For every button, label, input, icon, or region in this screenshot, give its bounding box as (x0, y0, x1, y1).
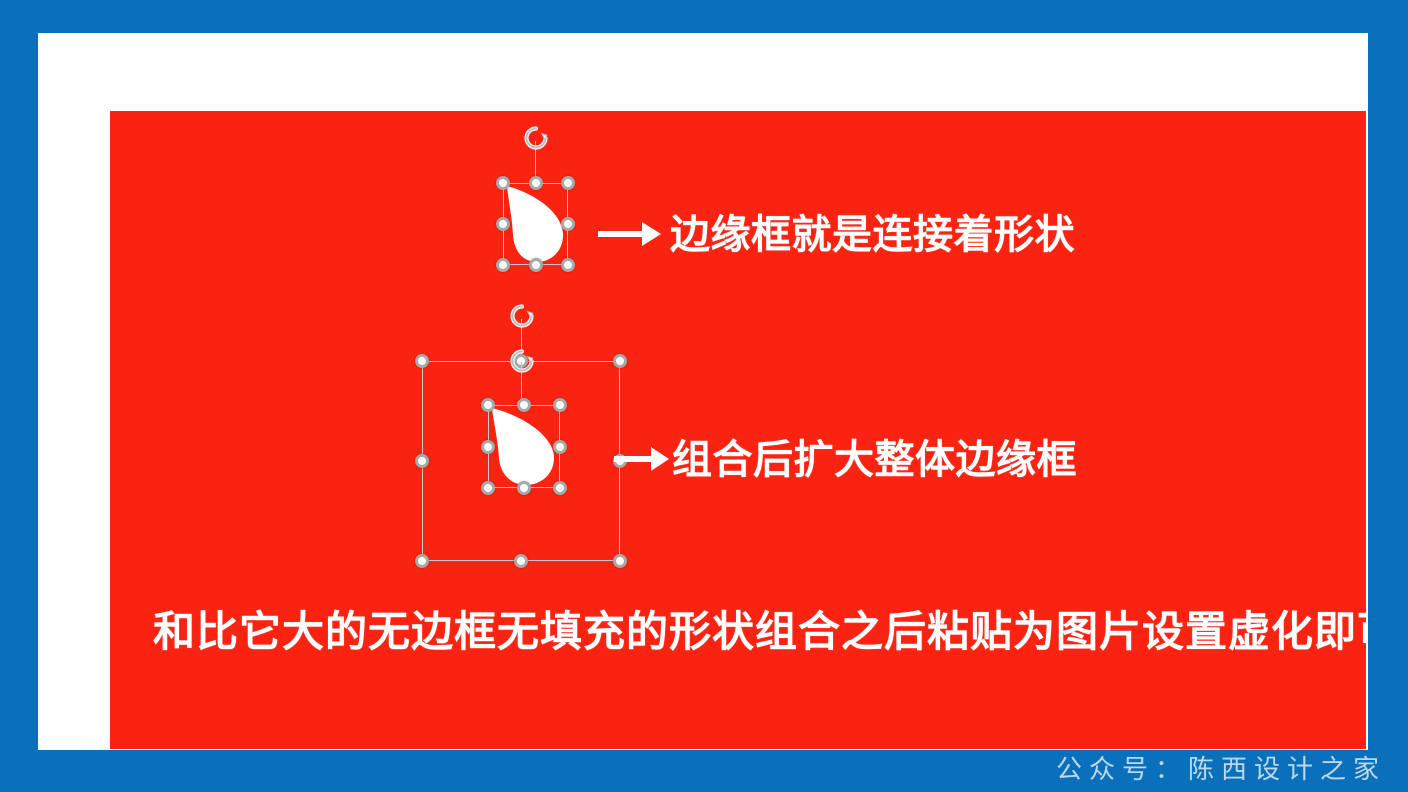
selection-handle[interactable] (561, 217, 575, 231)
right-arrow-icon (598, 221, 662, 247)
rotate-handle-icon[interactable] (507, 301, 537, 331)
selection-handle[interactable] (415, 454, 429, 468)
selection-handle[interactable] (613, 354, 627, 368)
selection-handle[interactable] (517, 481, 531, 495)
right-arrow-icon (614, 446, 670, 472)
selection-handle[interactable] (553, 481, 567, 495)
selection-handle[interactable] (481, 440, 495, 454)
paper-frame: 边缘框就是连接着形状 (38, 33, 1368, 750)
selection-handle[interactable] (481, 398, 495, 412)
selection-handle[interactable] (561, 258, 575, 272)
rotate-handle-icon[interactable] (521, 123, 551, 153)
selection-handle[interactable] (496, 176, 510, 190)
rotate-handle-icon[interactable] (507, 346, 537, 376)
selection-handle[interactable] (529, 176, 543, 190)
selection-handle[interactable] (553, 398, 567, 412)
selection-handle[interactable] (561, 176, 575, 190)
page-background: 边缘框就是连接着形状 (0, 0, 1408, 792)
slide-caption: 和比它大的无边框无填充的形状组合之后粘贴为图片设置虚化即可 (153, 611, 1366, 653)
callout-label-2: 组合后扩大整体边缘框 (672, 440, 1077, 480)
selection-handle[interactable] (553, 440, 567, 454)
selection-handle[interactable] (514, 554, 528, 568)
teardrop-shape[interactable] (488, 405, 560, 488)
selection-handle[interactable] (496, 217, 510, 231)
selection-handle[interactable] (415, 354, 429, 368)
callout-label-1: 边缘框就是连接着形状 (670, 215, 1075, 255)
selection-handle[interactable] (415, 554, 429, 568)
watermark-text: 公众号：陈西设计之家 (1056, 749, 1386, 786)
slide-canvas[interactable]: 边缘框就是连接着形状 (110, 111, 1366, 749)
selection-handle[interactable] (517, 398, 531, 412)
selection-handle[interactable] (613, 554, 627, 568)
selection-handle[interactable] (496, 258, 510, 272)
teardrop-shape[interactable] (503, 183, 568, 265)
selection-handle[interactable] (529, 258, 543, 272)
selection-handle[interactable] (481, 481, 495, 495)
